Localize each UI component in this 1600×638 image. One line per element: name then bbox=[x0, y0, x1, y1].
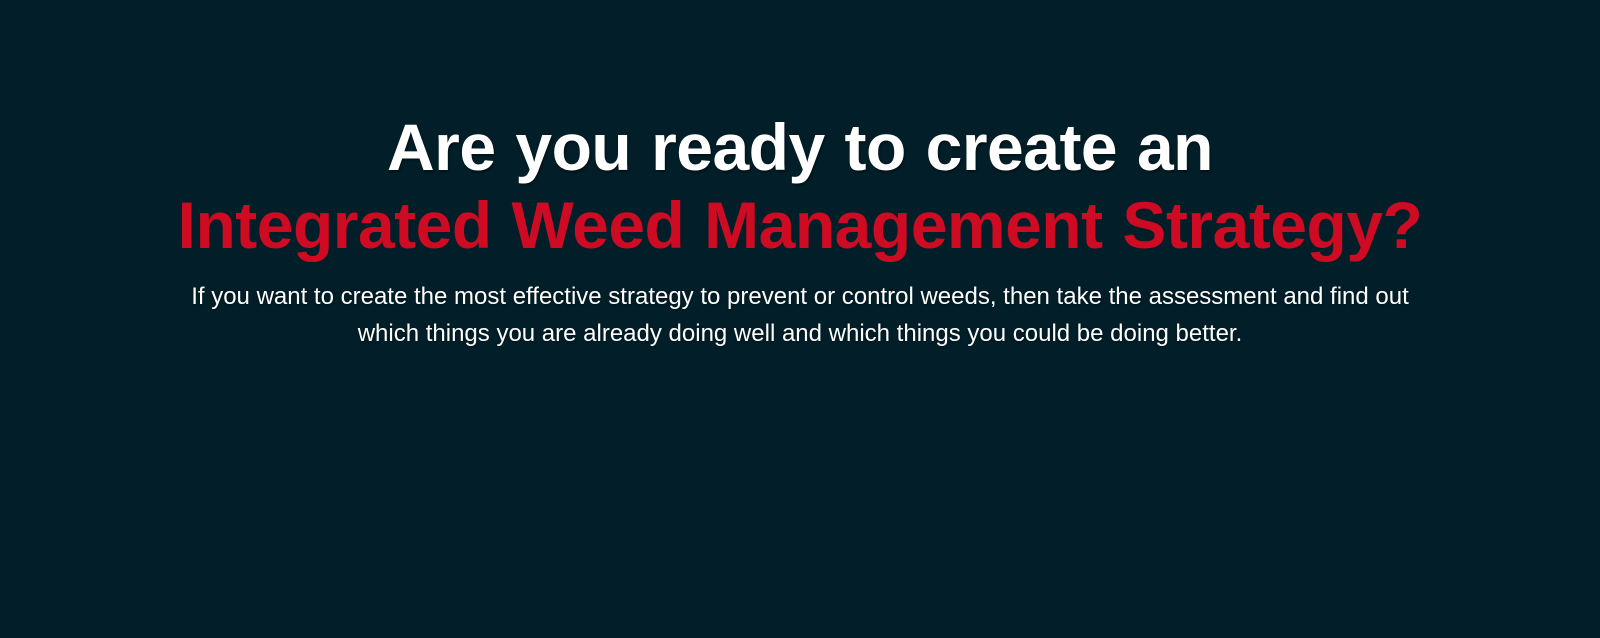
headline-line-accent: Integrated Weed Management Strategy? bbox=[0, 186, 1600, 264]
hero-empty-space bbox=[0, 368, 1600, 638]
hero-content: Are you ready to create an Integrated We… bbox=[0, 0, 1600, 352]
page-title: Are you ready to create an Integrated We… bbox=[0, 108, 1600, 264]
headline-line-primary: Are you ready to create an bbox=[0, 108, 1600, 186]
hero-section: Are you ready to create an Integrated We… bbox=[0, 0, 1600, 638]
hero-subtext: If you want to create the most effective… bbox=[165, 278, 1435, 352]
